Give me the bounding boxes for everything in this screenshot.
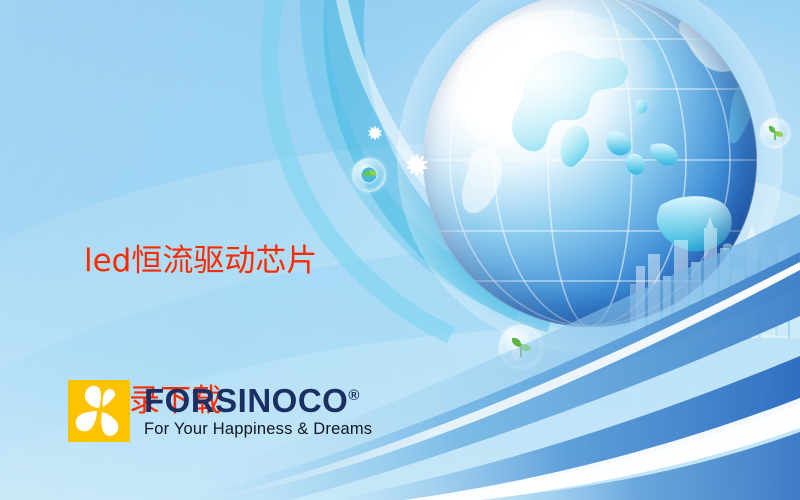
flower-petals-icon (68, 380, 130, 442)
registered-mark: ® (348, 387, 359, 404)
brand-tagline: For Your Happiness & Dreams (144, 421, 372, 438)
brand-name-text: FORSINOCO (144, 382, 348, 419)
promo-banner: led恒流驱动芯片 目录下载 FORSINOCO® For Your Happi… (0, 0, 800, 500)
page-title: led恒流驱动芯片 目录下载 (84, 166, 414, 496)
four-petal-flower-icon (68, 380, 130, 442)
brand-logo: FORSINOCO® For Your Happiness & Dreams (68, 380, 372, 442)
headline-line-1: led恒流驱动芯片 (84, 242, 414, 280)
logo-text-block: FORSINOCO® For Your Happiness & Dreams (144, 384, 372, 438)
brand-name: FORSINOCO® (144, 384, 372, 417)
